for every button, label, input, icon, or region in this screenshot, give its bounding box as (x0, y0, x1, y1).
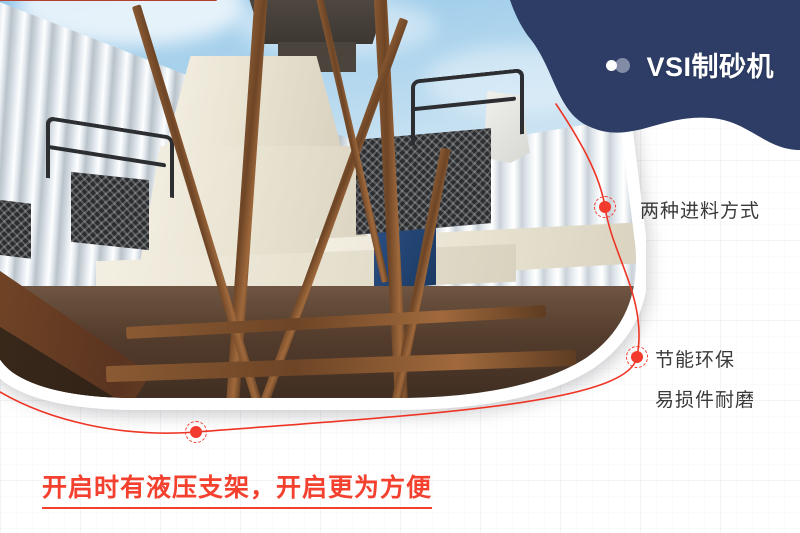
mesh-guard-panel (0, 198, 31, 259)
machine-red-band-lower (0, 0, 226, 1)
double-dot-bullet-icon (606, 58, 632, 72)
page-title: VSI制砂机 (646, 45, 774, 84)
annotation-label-wear: 易损件耐磨 (655, 385, 755, 412)
bottom-caption: 开启时有液压支架，开启更为方便 (42, 468, 432, 509)
red-dot-marker-icon[interactable] (626, 346, 648, 368)
banner-title-row: VSI制砂机 (606, 45, 774, 84)
red-dot-marker-icon[interactable] (185, 421, 207, 443)
annotation-label-feeding: 两种进料方式 (640, 196, 760, 223)
promo-banner: VSI制砂机 两种进料方式 节能环保 易损件耐磨 开启时有液压支架，开启更为方便 (0, 0, 800, 533)
annotation-label-eco: 节能环保 (655, 345, 735, 372)
red-dot-marker-icon[interactable] (594, 196, 616, 218)
